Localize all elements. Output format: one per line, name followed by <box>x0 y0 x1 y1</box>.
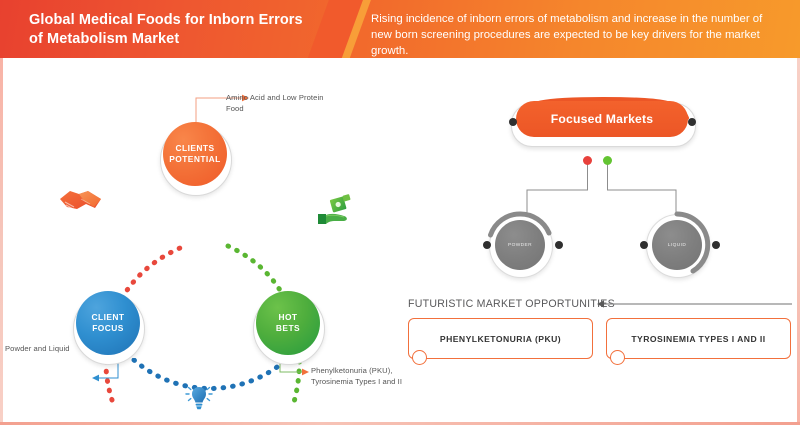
futuristic-arrow-line <box>596 298 796 312</box>
infographic-page: Global Medical Foods for Inborn Errors o… <box>0 0 800 425</box>
opportunity-box-tyrosinemia-label: TYROSINEMIA TYPES I AND II <box>631 334 765 344</box>
money-in-hand-icon <box>314 194 356 237</box>
frame-border-left <box>0 58 3 425</box>
page-title: Global Medical Foods for Inborn Errors o… <box>29 11 319 49</box>
lightbulb-icon <box>181 380 217 421</box>
powder-dot-left <box>483 241 491 249</box>
focused-markets-label: Focused Markets <box>551 112 654 126</box>
opportunity-box-tyrosinemia[interactable]: TYROSINEMIA TYPES I AND II <box>606 318 791 359</box>
media-circle-liquid[interactable]: LIQUID <box>652 220 702 270</box>
handshake-icon <box>57 182 105 223</box>
media-circle-liquid-label: LIQUID <box>668 243 686 248</box>
node-clients-potential[interactable]: CLIENTSPOTENTIAL <box>163 122 227 186</box>
focused-markets-dot-right <box>688 118 696 126</box>
liquid-dot-left <box>640 241 648 249</box>
node-client-focus-label: CLIENTFOCUS <box>92 312 125 334</box>
focused-markets-pill[interactable]: Focused Markets <box>516 101 688 137</box>
node-hot-bets[interactable]: HOTBETS <box>256 291 320 355</box>
opportunity-marker-tyrosinemia <box>610 350 625 365</box>
callout-hot-bets: Phenylketonuria (PKU), Tyrosinemia Types… <box>311 366 409 387</box>
focused-markets-dot-left <box>509 118 517 126</box>
green-node-dot <box>603 156 612 165</box>
media-circle-powder[interactable]: POWDER <box>495 220 545 270</box>
opportunity-box-pku[interactable]: PHENYLKETONURIA (PKU) <box>408 318 593 359</box>
node-clients-potential-label: CLIENTSPOTENTIAL <box>169 143 221 165</box>
callout-clients-potential: Amino Acid and Low Protein Food <box>226 93 326 114</box>
callout-client-focus: Powder and Liquid <box>5 344 91 355</box>
node-hot-bets-label: HOTBETS <box>276 312 300 334</box>
opportunity-box-pku-label: PHENYLKETONURIA (PKU) <box>440 334 561 344</box>
red-node-dot <box>583 156 592 165</box>
header-subtitle: Rising incidence of inborn errors of met… <box>371 11 779 58</box>
media-circle-powder-label: POWDER <box>508 243 532 248</box>
futuristic-section-label: FUTURISTIC MARKET OPPORTUNITIES <box>408 298 615 310</box>
liquid-dot-right <box>712 241 720 249</box>
header-banner: Global Medical Foods for Inborn Errors o… <box>0 0 800 58</box>
powder-dot-right <box>555 241 563 249</box>
focused-markets-tree-connectors <box>515 164 705 216</box>
opportunity-marker-pku <box>412 350 427 365</box>
